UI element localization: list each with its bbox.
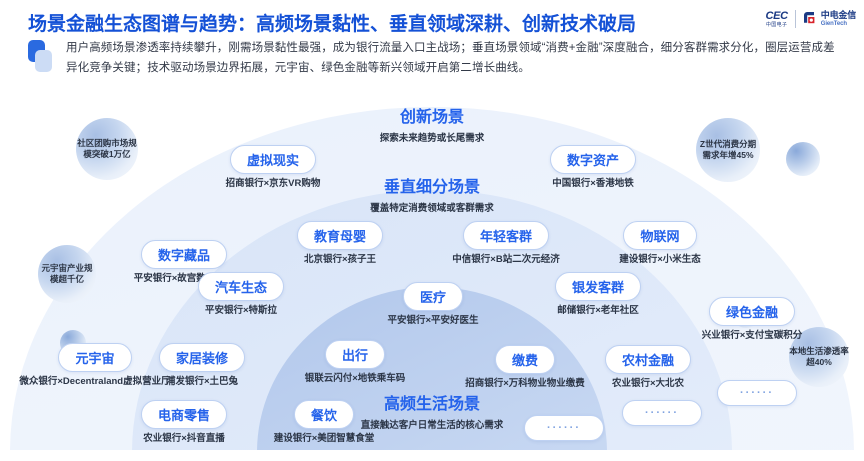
- node-label[interactable]: 出行: [325, 340, 385, 369]
- summary-block: 用户高频场景渗透率持续攀升，刚需场景黏性最强，成为银行流量入口主战场；垂直场景领…: [28, 38, 838, 80]
- stat-bubble: 元宇宙产业规模超千亿: [38, 245, 96, 303]
- node-label[interactable]: 汽车生态: [198, 272, 284, 301]
- node-home-decor[interactable]: 家居装修 浦发银行×土巴兔: [136, 343, 268, 389]
- node-green-finance[interactable]: 绿色金融 兴业银行×支付宝碳积分: [676, 297, 828, 343]
- node-caption: 平安银行×平安好医生: [362, 315, 504, 328]
- node-digital-asset[interactable]: 数字资产 中国银行×香港地铁: [528, 145, 658, 191]
- node-label[interactable]: 缴费: [495, 345, 555, 374]
- cec-logo-sub: 中国电子: [766, 23, 788, 28]
- stat-text: 本地生活渗透率超40%: [789, 346, 849, 369]
- gientech-text: 中电金信 GienTech: [821, 11, 856, 27]
- node-ecommerce-retail[interactable]: 电商零售 农业银行×抖音直播: [110, 400, 258, 446]
- summary-marker-icon: [28, 40, 54, 80]
- node-payment[interactable]: 缴费 招商银行×万科物业物业缴费: [440, 345, 610, 391]
- node-label[interactable]: 数字藏品: [141, 240, 227, 269]
- node-travel[interactable]: 出行 银联云闪付×地铁乘车码: [280, 340, 430, 386]
- node-caption: 兴业银行×支付宝碳积分: [676, 330, 828, 343]
- node-rural-finance[interactable]: 农村金融 农业银行×大北农: [586, 345, 710, 391]
- layer-desc: 覆盖特定消费领域或客群需求: [357, 202, 507, 216]
- node-label[interactable]: 餐饮: [294, 400, 354, 429]
- slide-header: 场景金融生态图谱与趋势：高频场景黏性、垂直领域深耕、创新技术破局 CEC 中国电…: [0, 0, 864, 34]
- gientech-name-cn: 中电金信: [821, 11, 856, 20]
- node-label[interactable]: 虚拟现实: [230, 145, 316, 174]
- node-catering[interactable]: 餐饮 建设银行×美团智慧食堂: [245, 400, 403, 446]
- layer-title: 创新场景: [312, 108, 552, 128]
- node-label[interactable]: ······: [717, 380, 797, 406]
- node-label[interactable]: 教育母婴: [297, 221, 383, 250]
- node-silver-customers[interactable]: 银发客群 邮储银行×老年社区: [534, 272, 662, 318]
- node-caption: 邮储银行×老年社区: [534, 305, 662, 318]
- node-medical[interactable]: 医疗 平安银行×平安好医生: [362, 282, 504, 328]
- node-caption: 农业银行×大北农: [586, 378, 710, 391]
- stat-bubble: Z世代消费分期需求年增45%: [696, 118, 760, 182]
- node-label[interactable]: 电商零售: [141, 400, 227, 429]
- node-label[interactable]: ······: [622, 400, 702, 426]
- stat-text: 元宇宙产业规模超千亿: [38, 263, 96, 286]
- cec-logo-main: CEC: [765, 11, 787, 22]
- gientech-logo: 中电金信 GienTech: [803, 11, 856, 27]
- node-label[interactable]: 绿色金融: [709, 297, 795, 326]
- slide-canvas: 场景金融生态图谱与趋势：高频场景黏性、垂直领域深耕、创新技术破局 CEC 中国电…: [0, 0, 864, 461]
- layer-title: 垂直细分场景: [312, 178, 552, 198]
- gientech-name-en: GienTech: [821, 21, 856, 27]
- decorative-circle: [786, 142, 820, 176]
- node-label[interactable]: 医疗: [403, 282, 463, 311]
- node-auto-ecosystem[interactable]: 汽车生态 平安银行×特斯拉: [176, 272, 306, 318]
- logo-divider: [795, 10, 796, 28]
- node-caption: 招商银行×万科物业物业缴费: [440, 378, 610, 391]
- summary-text: 用户高频场景渗透率持续攀升，刚需场景黏性最强，成为银行流量入口主战场；垂直场景领…: [66, 38, 838, 80]
- gientech-mark-icon: [803, 12, 818, 27]
- node-label[interactable]: 家居装修: [159, 343, 245, 372]
- stat-text: Z世代消费分期需求年增45%: [696, 139, 760, 162]
- node-caption: 中信银行×B站二次元经济: [430, 254, 582, 267]
- node-caption: 中国银行×香港地铁: [528, 178, 658, 191]
- layer-label-innovation: 创新场景 探索未来趋势或长尾需求: [312, 108, 552, 146]
- logo-group: CEC 中国电子 中电金信 GienTech: [765, 8, 856, 30]
- node-iot[interactable]: 物联网 建设银行×小米生态: [592, 221, 728, 267]
- node-label[interactable]: 银发客群: [555, 272, 641, 301]
- node-education-maternal[interactable]: 教育母婴 北京银行×孩子王: [281, 221, 399, 267]
- node-caption: 建设银行×小米生态: [592, 254, 728, 267]
- node-caption: 平安银行×特斯拉: [176, 305, 306, 318]
- node-caption: 招商银行×京东VR购物: [208, 178, 338, 191]
- ecosystem-diagram: 创新场景 探索未来趋势或长尾需求 垂直细分场景 覆盖特定消费领域或客群需求 高频…: [0, 100, 864, 461]
- page-title: 场景金融生态图谱与趋势：高频场景黏性、垂直领域深耕、创新技术破局: [28, 9, 636, 36]
- node-label[interactable]: 农村金融: [605, 345, 691, 374]
- node-label[interactable]: 年轻客群: [463, 221, 549, 250]
- stat-bubble: 社区团购市场规模突破1万亿: [76, 118, 138, 180]
- node-label[interactable]: ······: [524, 415, 604, 441]
- node-more-2[interactable]: ······: [622, 400, 702, 426]
- node-more-3[interactable]: ······: [717, 380, 797, 406]
- node-label[interactable]: 数字资产: [550, 145, 636, 174]
- node-caption: 农业银行×抖音直播: [110, 433, 258, 446]
- node-caption: 北京银行×孩子王: [281, 254, 399, 267]
- node-caption: 建设银行×美团智慧食堂: [245, 433, 403, 446]
- node-label[interactable]: 元宇宙: [58, 343, 131, 372]
- node-label[interactable]: 物联网: [623, 221, 696, 250]
- cec-logo: CEC 中国电子: [765, 11, 787, 28]
- layer-desc: 探索未来趋势或长尾需求: [312, 132, 552, 146]
- node-vr[interactable]: 虚拟现实 招商银行×京东VR购物: [208, 145, 338, 191]
- node-caption: 浦发银行×土巴兔: [136, 376, 268, 389]
- layer-label-vertical: 垂直细分场景 覆盖特定消费领域或客群需求: [312, 178, 552, 216]
- stat-text: 社区团购市场规模突破1万亿: [76, 138, 138, 161]
- node-more-1[interactable]: ······: [524, 415, 604, 441]
- node-young-customers[interactable]: 年轻客群 中信银行×B站二次元经济: [430, 221, 582, 267]
- node-caption: 银联云闪付×地铁乘车码: [280, 373, 430, 386]
